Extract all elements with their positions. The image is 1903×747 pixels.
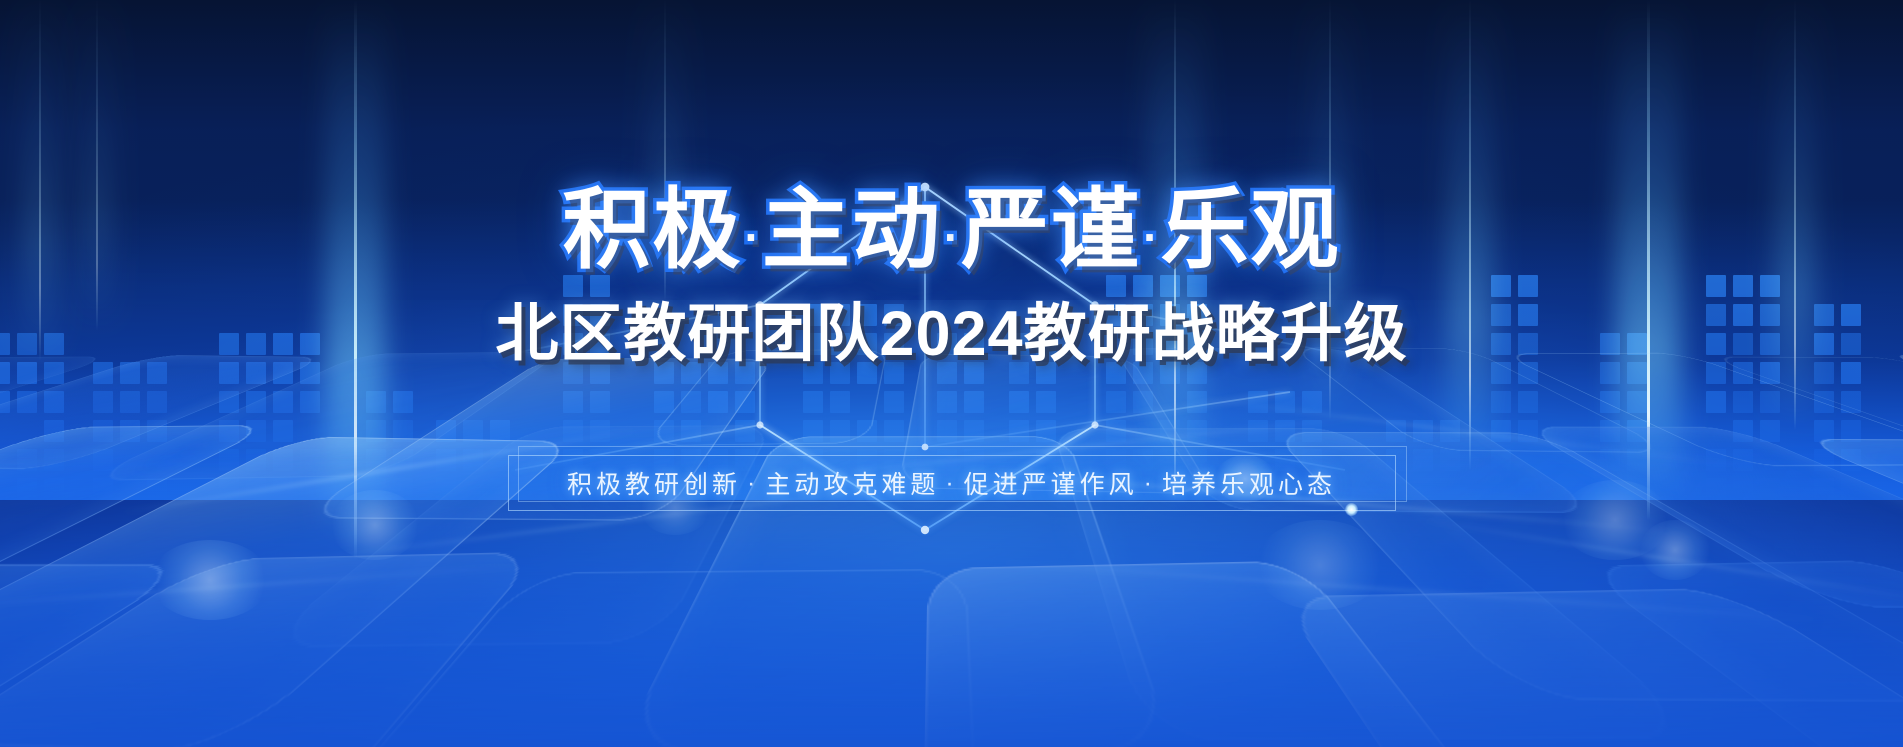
mosaic-pixel [1518,391,1538,413]
mosaic-pixel [1106,391,1126,413]
mosaic-pixel [17,391,37,413]
mosaic-tower [937,333,984,500]
mosaic-pixel [300,333,320,355]
mosaic-pixel [1386,478,1406,500]
mosaic-pixel [884,304,904,326]
mosaic-pixel [1491,391,1511,413]
mosaic-pixel [1248,420,1268,442]
mosaic-pixel [1440,449,1460,471]
mosaic-pixel [246,333,266,355]
mosaic-pixel [1518,420,1538,442]
mosaic-pixel [1627,449,1647,471]
mosaic-pixel [803,362,823,384]
mosaic-pixel [1187,275,1207,297]
mosaic-pixel [735,478,755,500]
mosaic-pixel [1386,449,1406,471]
mosaic-pixel [1841,304,1861,326]
mosaic-pixel [1491,362,1511,384]
mosaic-pixel [1706,478,1726,500]
mosaic-pixel [1160,420,1180,442]
mosaic-pixel [393,449,413,471]
mosaic-pixel [803,420,823,442]
mosaic-pixel [857,449,877,471]
mosaic-pixel [120,420,140,442]
mosaic-pixel [1133,304,1153,326]
mosaic-pixel [654,478,674,500]
mosaic-tower [0,333,64,500]
mosaic-pixel [436,478,456,500]
mosaic-pixel [803,391,823,413]
mosaic-pixel [1275,478,1295,500]
mosaic-pixel [1518,362,1538,384]
mosaic-pixel [1760,362,1780,384]
mosaic-pixel [857,362,877,384]
mosaic-pixel [1706,333,1726,355]
mosaic-pixel [1518,275,1538,297]
mosaic-pixel [1009,333,1029,355]
mosaic-pixel [1841,362,1861,384]
mosaic-pixel [300,362,320,384]
mosaic-pixel [1133,362,1153,384]
mosaic-pixel [563,420,583,442]
mosaic-pixel [1440,478,1460,500]
mosaic-pixel [681,449,701,471]
mosaic-pixel [300,391,320,413]
mosaic-tower [366,391,413,500]
mosaic-pixel [563,304,583,326]
mosaic-pixel [1733,275,1753,297]
mosaic-pixel [803,304,823,326]
mosaic-pixel [1518,304,1538,326]
mosaic-pixel [563,362,583,384]
mosaic-pixel [884,478,904,500]
mosaic-pixel [1036,420,1056,442]
mosaic-pixel [1009,420,1029,442]
mosaic-pixel [937,420,957,442]
mosaic-pixel [44,449,64,471]
mosaic-pixel [1036,478,1056,500]
mosaic-pixel [1841,333,1861,355]
mosaic-pixel [1814,420,1834,442]
mosaic-pixel [490,420,510,442]
mosaic-pixel [1706,304,1726,326]
mosaic-pixel [563,449,583,471]
mosaic-pixel [735,362,755,384]
mosaic-pixel [1841,478,1861,500]
mosaic-pixel [1600,449,1620,471]
mosaic-pixel [1600,391,1620,413]
mosaic-pixel [884,333,904,355]
mosaic-pixel [857,478,877,500]
mosaic-pixel [1760,333,1780,355]
mosaic-pixel [964,420,984,442]
pixel-mosaic-skyline [0,0,1903,500]
mosaic-pixel [1814,478,1834,500]
mosaic-pixel [1106,304,1126,326]
mosaic-pixel [1760,420,1780,442]
mosaic-pixel [1760,391,1780,413]
mosaic-pixel [300,449,320,471]
mosaic-pixel [246,449,266,471]
mosaic-pixel [735,420,755,442]
mosaic-pixel [393,391,413,413]
mosaic-pixel [1706,449,1726,471]
mosaic-pixel [964,362,984,384]
mosaic-pixel [1760,275,1780,297]
mosaic-pixel [803,478,823,500]
mosaic-pixel [590,362,610,384]
mosaic-pixel [1760,304,1780,326]
mosaic-pixel [463,420,483,442]
mosaic-pixel [964,449,984,471]
mosaic-pixel [1302,449,1322,471]
mosaic-pixel [1627,362,1647,384]
mosaic-pixel [1036,362,1056,384]
mosaic-pixel [708,391,728,413]
mosaic-pixel [1733,449,1753,471]
mosaic-pixel [246,420,266,442]
mosaic-pixel [1248,478,1268,500]
mosaic-pixel [1814,333,1834,355]
mosaic-pixel [0,391,10,413]
mosaic-pixel [44,362,64,384]
mosaic-pixel [1841,391,1861,413]
mosaic-pixel [1133,449,1153,471]
mosaic-pixel [1106,420,1126,442]
mosaic-pixel [1841,449,1861,471]
mosaic-pixel [1187,449,1207,471]
mosaic-tower [1009,333,1056,500]
mosaic-pixel [1491,449,1511,471]
mosaic-pixel [1706,391,1726,413]
mosaic-pixel [1814,304,1834,326]
mosaic-pixel [120,362,140,384]
mosaic-pixel [590,333,610,355]
mosaic-pixel [366,420,386,442]
mosaic-pixel [1009,391,1029,413]
mosaic-pixel [681,391,701,413]
mosaic-pixel [366,391,386,413]
mosaic-pixel [1491,333,1511,355]
mosaic-pixel [1600,362,1620,384]
mosaic-pixel [1518,478,1538,500]
mosaic-pixel [735,391,755,413]
mosaic-pixel [563,333,583,355]
mosaic-pixel [884,420,904,442]
mosaic-pixel [44,391,64,413]
mosaic-pixel [1733,420,1753,442]
mosaic-pixel [219,449,239,471]
mosaic-pixel [654,391,674,413]
mosaic-pixel [393,478,413,500]
mosaic-pixel [1160,449,1180,471]
mosaic-pixel [590,420,610,442]
mosaic-pixel [147,362,167,384]
mosaic-pixel [1733,391,1753,413]
mosaic-pixel [1187,333,1207,355]
mosaic-pixel [1386,420,1406,442]
mosaic-pixel [857,304,877,326]
mosaic-pixel [366,478,386,500]
mosaic-pixel [93,449,113,471]
mosaic-pixel [590,391,610,413]
mosaic-pixel [1627,333,1647,355]
mosaic-tower [1600,333,1647,500]
mosaic-pixel [1733,478,1753,500]
mosaic-pixel [830,478,850,500]
mosaic-pixel [273,478,293,500]
mosaic-pixel [654,362,674,384]
mosaic-pixel [273,449,293,471]
banner-root: 积极·主动·严谨·乐观 北区教研团队2024教研战略升级 积极教研创新·主动攻克… [0,0,1903,747]
mosaic-pixel [1036,391,1056,413]
mosaic-pixel [1518,333,1538,355]
mosaic-pixel [654,420,674,442]
mosaic-pixel [219,391,239,413]
mosaic-pixel [93,420,113,442]
mosaic-pixel [1133,275,1153,297]
mosaic-pixel [147,420,167,442]
mosaic-pixel [857,420,877,442]
mosaic-pixel [830,449,850,471]
mosaic-tower [563,275,610,500]
mosaic-pixel [393,420,413,442]
mosaic-pixel [366,449,386,471]
mosaic-pixel [1491,420,1511,442]
mosaic-pixel [1160,362,1180,384]
mosaic-pixel [1106,362,1126,384]
mosaic-pixel [964,391,984,413]
mosaic-pixel [937,449,957,471]
mosaic-pixel [590,449,610,471]
mosaic-pixel [1187,391,1207,413]
mosaic-pixel [17,478,37,500]
mosaic-tower [93,362,167,500]
mosaic-pixel [735,449,755,471]
mosaic-pixel [120,391,140,413]
mosaic-pixel [563,391,583,413]
mosaic-pixel [273,420,293,442]
mosaic-pixel [1036,449,1056,471]
mosaic-pixel [830,333,850,355]
mosaic-pixel [1627,391,1647,413]
mosaic-pixel [1814,362,1834,384]
mosaic-pixel [93,362,113,384]
mosaic-tower [803,304,904,500]
mosaic-pixel [1600,478,1620,500]
mosaic-pixel [1133,478,1153,500]
mosaic-pixel [590,304,610,326]
mosaic-tower [1386,420,1460,500]
mosaic-tower [1106,275,1207,500]
mosaic-pixel [1302,420,1322,442]
mosaic-tower [436,420,510,500]
mosaic-pixel [17,333,37,355]
mosaic-pixel [1600,420,1620,442]
mosaic-pixel [147,478,167,500]
mosaic-pixel [490,449,510,471]
mosaic-pixel [937,391,957,413]
mosaic-pixel [1627,478,1647,500]
mosaic-pixel [120,478,140,500]
mosaic-pixel [830,391,850,413]
mosaic-pixel [1841,420,1861,442]
mosaic-pixel [0,333,10,355]
mosaic-pixel [884,449,904,471]
mosaic-pixel [708,362,728,384]
mosaic-pixel [1106,449,1126,471]
mosaic-pixel [246,362,266,384]
mosaic-pixel [1491,275,1511,297]
mosaic-pixel [1248,391,1268,413]
mosaic-pixel [1760,478,1780,500]
mosaic-pixel [1413,420,1433,442]
mosaic-pixel [1160,333,1180,355]
mosaic-pixel [937,333,957,355]
mosaic-tower [1706,275,1780,500]
mosaic-pixel [246,478,266,500]
mosaic-pixel [1733,304,1753,326]
mosaic-pixel [830,362,850,384]
mosaic-pixel [1106,275,1126,297]
mosaic-pixel [803,449,823,471]
mosaic-pixel [1706,362,1726,384]
mosaic-pixel [1413,478,1433,500]
mosaic-pixel [1706,275,1726,297]
mosaic-tower [1248,391,1322,500]
mosaic-pixel [1187,362,1207,384]
mosaic-pixel [93,478,113,500]
mosaic-pixel [1187,304,1207,326]
mosaic-pixel [681,362,701,384]
mosaic-pixel [1275,449,1295,471]
mosaic-pixel [17,362,37,384]
mosaic-pixel [1491,304,1511,326]
mosaic-tower [654,362,755,500]
mosaic-pixel [803,333,823,355]
mosaic-pixel [830,304,850,326]
mosaic-pixel [273,391,293,413]
mosaic-pixel [436,449,456,471]
mosaic-pixel [1009,362,1029,384]
mosaic-pixel [1302,391,1322,413]
mosaic-pixel [654,449,674,471]
mosaic-pixel [964,478,984,500]
mosaic-pixel [1733,333,1753,355]
mosaic-pixel [1600,333,1620,355]
mosaic-pixel [44,333,64,355]
mosaic-pixel [219,362,239,384]
mosaic-pixel [1160,304,1180,326]
mosaic-pixel [1160,275,1180,297]
mosaic-pixel [1440,420,1460,442]
mosaic-pixel [463,449,483,471]
mosaic-tower [219,333,320,500]
mosaic-pixel [17,449,37,471]
mosaic-pixel [1814,449,1834,471]
mosaic-pixel [964,333,984,355]
mosaic-pixel [830,420,850,442]
mosaic-pixel [300,478,320,500]
mosaic-pixel [44,478,64,500]
mosaic-pixel [44,420,64,442]
mosaic-pixel [1413,449,1433,471]
mosaic-pixel [590,275,610,297]
mosaic-pixel [1160,478,1180,500]
mosaic-pixel [273,362,293,384]
mosaic-pixel [857,333,877,355]
mosaic-pixel [219,478,239,500]
mosaic-pixel [1275,420,1295,442]
mosaic-tower [1814,304,1861,500]
mosaic-pixel [708,449,728,471]
mosaic-pixel [219,333,239,355]
mosaic-pixel [1187,478,1207,500]
mosaic-pixel [937,362,957,384]
mosaic-pixel [681,478,701,500]
mosaic-pixel [1814,391,1834,413]
mosaic-pixel [490,478,510,500]
mosaic-pixel [1733,362,1753,384]
mosaic-pixel [1133,391,1153,413]
mosaic-pixel [1187,420,1207,442]
mosaic-pixel [1133,333,1153,355]
mosaic-pixel [246,391,266,413]
mosaic-pixel [1627,420,1647,442]
mosaic-pixel [1302,478,1322,500]
mosaic-pixel [1275,391,1295,413]
mosaic-pixel [147,391,167,413]
mosaic-pixel [884,391,904,413]
mosaic-tower [1491,275,1538,500]
mosaic-pixel [273,333,293,355]
mosaic-pixel [681,420,701,442]
mosaic-pixel [0,362,10,384]
mosaic-pixel [1106,478,1126,500]
mosaic-pixel [219,420,239,442]
mosaic-pixel [436,420,456,442]
mosaic-pixel [1036,333,1056,355]
mosaic-pixel [93,391,113,413]
mosaic-pixel [563,275,583,297]
mosaic-pixel [563,478,583,500]
mosaic-pixel [884,362,904,384]
